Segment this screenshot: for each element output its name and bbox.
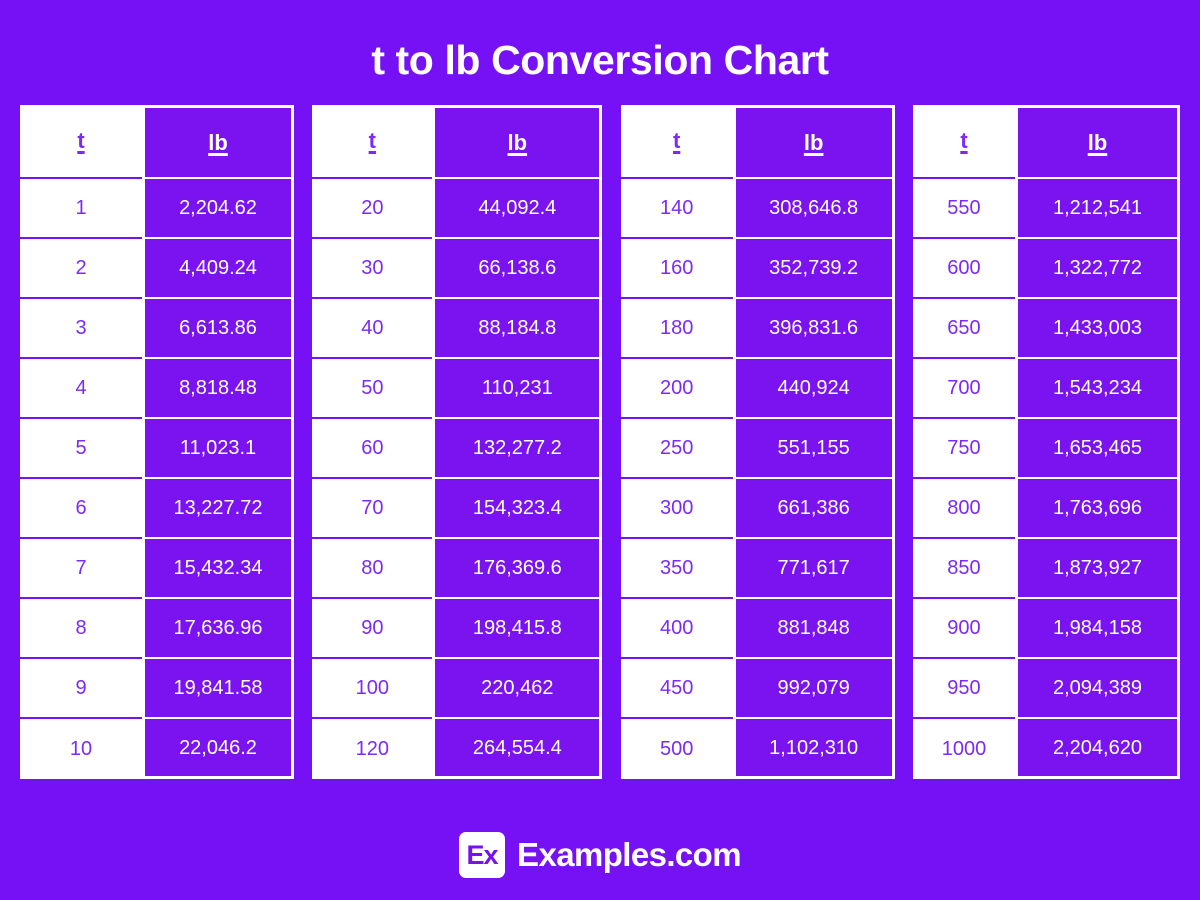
cell-pounds: 1,212,541 — [1015, 179, 1180, 239]
table-row: 4088,184.8 — [312, 299, 602, 359]
table-row: 7001,543,234 — [913, 359, 1180, 419]
table-header-row: tlb — [312, 105, 602, 179]
cell-pounds: 2,094,389 — [1015, 659, 1180, 719]
cell-pounds: 220,462 — [432, 659, 602, 719]
cell-tonnes: 650 — [913, 299, 1015, 359]
cell-tonnes: 700 — [913, 359, 1015, 419]
table-row: 6001,322,772 — [913, 239, 1180, 299]
table-row: 24,409.24 — [20, 239, 294, 299]
cell-pounds: 396,831.6 — [733, 299, 895, 359]
cell-pounds: 1,763,696 — [1015, 479, 1180, 539]
cell-pounds: 66,138.6 — [432, 239, 602, 299]
table-row: 300661,386 — [621, 479, 895, 539]
cell-pounds: 88,184.8 — [432, 299, 602, 359]
cell-pounds: 1,543,234 — [1015, 359, 1180, 419]
column-header-label: lb — [508, 132, 528, 154]
cell-tonnes: 9 — [20, 659, 142, 719]
cell-pounds: 881,848 — [733, 599, 895, 659]
table-row: 613,227.72 — [20, 479, 294, 539]
examples-logo-mark: Ex — [459, 832, 505, 878]
column-header-label: t — [673, 130, 680, 152]
examples-logo-text: Examples.com — [517, 836, 741, 874]
cell-tonnes: 5 — [20, 419, 142, 479]
cell-tonnes: 8 — [20, 599, 142, 659]
table-row: 8501,873,927 — [913, 539, 1180, 599]
cell-pounds: 1,984,158 — [1015, 599, 1180, 659]
conversion-tables-container: tlb12,204.6224,409.2436,613.8648,818.485… — [0, 105, 1200, 779]
cell-tonnes: 30 — [312, 239, 432, 299]
cell-tonnes: 3 — [20, 299, 142, 359]
column-header-lb: lb — [432, 105, 602, 179]
table-row: 10002,204,620 — [913, 719, 1180, 779]
footer-branding: Ex Examples.com — [0, 832, 1200, 878]
cell-pounds: 110,231 — [432, 359, 602, 419]
cell-pounds: 22,046.2 — [142, 719, 294, 779]
table-header-row: tlb — [913, 105, 1180, 179]
cell-pounds: 6,613.86 — [142, 299, 294, 359]
table-row: 817,636.96 — [20, 599, 294, 659]
table-row: 2044,092.4 — [312, 179, 602, 239]
cell-pounds: 308,646.8 — [733, 179, 895, 239]
table-row: 919,841.58 — [20, 659, 294, 719]
cell-tonnes: 250 — [621, 419, 733, 479]
cell-pounds: 264,554.4 — [432, 719, 602, 779]
conversion-table: tlb5501,212,5416001,322,7726501,433,0037… — [913, 105, 1180, 779]
table-row: 70154,323.4 — [312, 479, 602, 539]
conversion-table: tlb12,204.6224,409.2436,613.8648,818.485… — [20, 105, 294, 779]
cell-tonnes: 4 — [20, 359, 142, 419]
cell-tonnes: 1000 — [913, 719, 1015, 779]
table-row: 8001,763,696 — [913, 479, 1180, 539]
cell-tonnes: 600 — [913, 239, 1015, 299]
cell-tonnes: 400 — [621, 599, 733, 659]
table-row: 100220,462 — [312, 659, 602, 719]
cell-tonnes: 60 — [312, 419, 432, 479]
table-row: 350771,617 — [621, 539, 895, 599]
table-row: 6501,433,003 — [913, 299, 1180, 359]
column-header-label: lb — [1088, 132, 1108, 154]
conversion-table: tlb140308,646.8160352,739.2180396,831.62… — [621, 105, 895, 779]
column-header-lb: lb — [1015, 105, 1180, 179]
table-row: 7501,653,465 — [913, 419, 1180, 479]
cell-tonnes: 500 — [621, 719, 733, 779]
table-row: 9001,984,158 — [913, 599, 1180, 659]
cell-pounds: 154,323.4 — [432, 479, 602, 539]
cell-pounds: 352,739.2 — [733, 239, 895, 299]
column-header-t: t — [312, 105, 432, 179]
cell-tonnes: 950 — [913, 659, 1015, 719]
cell-pounds: 771,617 — [733, 539, 895, 599]
cell-tonnes: 850 — [913, 539, 1015, 599]
table-row: 5501,212,541 — [913, 179, 1180, 239]
table-row: 48,818.48 — [20, 359, 294, 419]
table-row: 250551,155 — [621, 419, 895, 479]
column-header-label: t — [77, 130, 84, 152]
table-row: 400881,848 — [621, 599, 895, 659]
cell-pounds: 15,432.34 — [142, 539, 294, 599]
cell-pounds: 44,092.4 — [432, 179, 602, 239]
cell-tonnes: 450 — [621, 659, 733, 719]
cell-pounds: 661,386 — [733, 479, 895, 539]
cell-tonnes: 7 — [20, 539, 142, 599]
cell-pounds: 1,873,927 — [1015, 539, 1180, 599]
cell-tonnes: 160 — [621, 239, 733, 299]
cell-pounds: 1,653,465 — [1015, 419, 1180, 479]
cell-tonnes: 900 — [913, 599, 1015, 659]
cell-tonnes: 800 — [913, 479, 1015, 539]
conversion-table: tlb2044,092.43066,138.64088,184.850110,2… — [312, 105, 602, 779]
cell-tonnes: 2 — [20, 239, 142, 299]
table-row: 511,023.1 — [20, 419, 294, 479]
cell-pounds: 440,924 — [733, 359, 895, 419]
column-header-lb: lb — [142, 105, 294, 179]
cell-pounds: 1,322,772 — [1015, 239, 1180, 299]
cell-tonnes: 350 — [621, 539, 733, 599]
table-row: 60132,277.2 — [312, 419, 602, 479]
table-row: 36,613.86 — [20, 299, 294, 359]
cell-pounds: 132,277.2 — [432, 419, 602, 479]
cell-tonnes: 550 — [913, 179, 1015, 239]
cell-tonnes: 750 — [913, 419, 1015, 479]
table-row: 5001,102,310 — [621, 719, 895, 779]
column-header-lb: lb — [733, 105, 895, 179]
table-row: 715,432.34 — [20, 539, 294, 599]
table-row: 160352,739.2 — [621, 239, 895, 299]
table-row: 120264,554.4 — [312, 719, 602, 779]
cell-tonnes: 40 — [312, 299, 432, 359]
cell-tonnes: 10 — [20, 719, 142, 779]
column-header-t: t — [913, 105, 1015, 179]
cell-pounds: 1,102,310 — [733, 719, 895, 779]
cell-pounds: 2,204.62 — [142, 179, 294, 239]
cell-tonnes: 70 — [312, 479, 432, 539]
table-row: 3066,138.6 — [312, 239, 602, 299]
table-row: 450992,079 — [621, 659, 895, 719]
table-row: 180396,831.6 — [621, 299, 895, 359]
cell-tonnes: 200 — [621, 359, 733, 419]
column-header-label: lb — [804, 132, 824, 154]
cell-pounds: 198,415.8 — [432, 599, 602, 659]
cell-pounds: 19,841.58 — [142, 659, 294, 719]
cell-pounds: 2,204,620 — [1015, 719, 1180, 779]
table-row: 12,204.62 — [20, 179, 294, 239]
cell-tonnes: 140 — [621, 179, 733, 239]
column-header-t: t — [20, 105, 142, 179]
table-row: 90198,415.8 — [312, 599, 602, 659]
cell-tonnes: 50 — [312, 359, 432, 419]
column-header-label: t — [369, 130, 376, 152]
table-header-row: tlb — [621, 105, 895, 179]
cell-pounds: 4,409.24 — [142, 239, 294, 299]
table-row: 200440,924 — [621, 359, 895, 419]
table-row: 1022,046.2 — [20, 719, 294, 779]
table-row: 80176,369.6 — [312, 539, 602, 599]
cell-pounds: 551,155 — [733, 419, 895, 479]
cell-pounds: 17,636.96 — [142, 599, 294, 659]
table-row: 140308,646.8 — [621, 179, 895, 239]
cell-tonnes: 6 — [20, 479, 142, 539]
cell-pounds: 8,818.48 — [142, 359, 294, 419]
table-row: 9502,094,389 — [913, 659, 1180, 719]
cell-tonnes: 120 — [312, 719, 432, 779]
cell-pounds: 11,023.1 — [142, 419, 294, 479]
cell-tonnes: 80 — [312, 539, 432, 599]
column-header-label: t — [960, 130, 967, 152]
page-title: t to lb Conversion Chart — [0, 0, 1200, 83]
cell-tonnes: 20 — [312, 179, 432, 239]
table-header-row: tlb — [20, 105, 294, 179]
cell-pounds: 1,433,003 — [1015, 299, 1180, 359]
cell-tonnes: 90 — [312, 599, 432, 659]
cell-pounds: 992,079 — [733, 659, 895, 719]
table-row: 50110,231 — [312, 359, 602, 419]
cell-pounds: 176,369.6 — [432, 539, 602, 599]
cell-tonnes: 300 — [621, 479, 733, 539]
column-header-label: lb — [208, 132, 228, 154]
column-header-t: t — [621, 105, 733, 179]
cell-tonnes: 100 — [312, 659, 432, 719]
cell-tonnes: 180 — [621, 299, 733, 359]
cell-tonnes: 1 — [20, 179, 142, 239]
cell-pounds: 13,227.72 — [142, 479, 294, 539]
